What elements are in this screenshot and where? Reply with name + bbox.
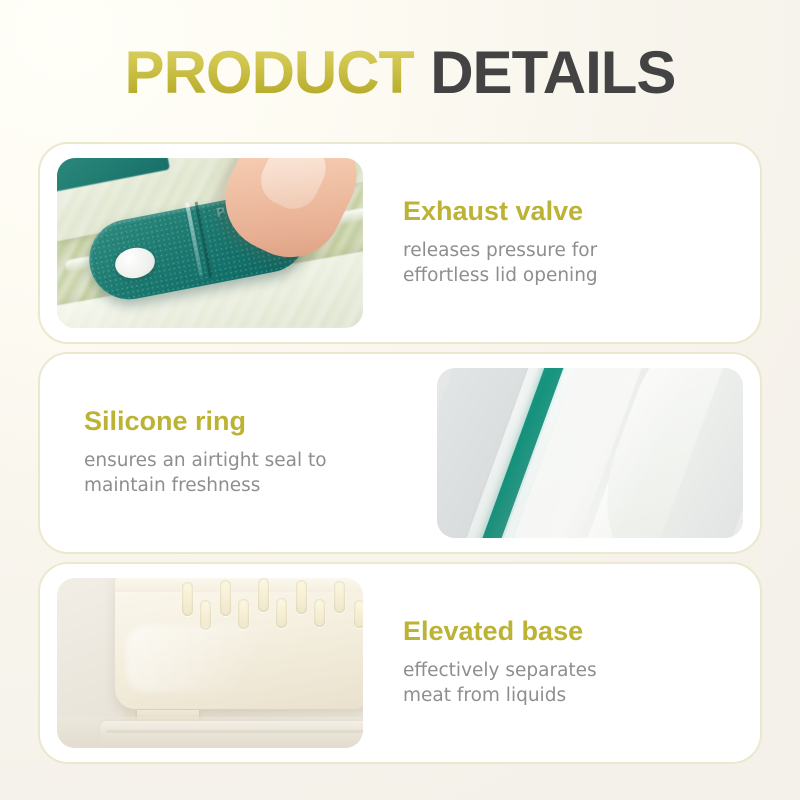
feature-description: ensures an airtight seal to maintain fre…	[84, 448, 413, 499]
basket-slot	[220, 580, 231, 616]
silicone-ring-photo	[437, 368, 743, 538]
feature-description-line-2: maintain freshness	[84, 473, 413, 499]
feature-text-silicone-ring: Silicone ring ensures an airtight seal t…	[40, 407, 437, 499]
page-title: PRODUCTDETAILS	[0, 38, 800, 107]
feature-description-line-2: meat from liquids	[403, 683, 736, 709]
feature-text-exhaust-valve: Exhaust valve releases pressure for effo…	[363, 197, 760, 289]
basket-slot	[182, 582, 193, 616]
surface-shadow	[57, 717, 363, 748]
feature-description-line-1: effectively separates	[403, 658, 736, 684]
drain-basket	[115, 578, 363, 709]
feature-description-line-1: releases pressure for	[403, 238, 736, 264]
basket-sheen	[126, 625, 310, 692]
feature-description: effectively separates meat from liquids	[403, 658, 736, 709]
feature-title: Elevated base	[403, 617, 736, 647]
feature-description-line-2: effortless lid opening	[403, 263, 736, 289]
feature-description-line-1: ensures an airtight seal to	[84, 448, 413, 474]
feature-text-elevated-base: Elevated base effectively separates meat…	[363, 617, 760, 709]
page-title-dark: DETAILS	[430, 38, 675, 107]
basket-slot	[354, 600, 363, 628]
feature-card-exhaust-valve: PUSH Exhaust valve releases pressure for…	[38, 142, 762, 344]
elevated-base-photo	[57, 578, 363, 748]
feature-title: Silicone ring	[84, 407, 413, 437]
feature-card-silicone-ring: Silicone ring ensures an airtight seal t…	[38, 352, 762, 554]
exhaust-valve-photo: PUSH	[57, 158, 363, 328]
basket-slot	[334, 581, 345, 613]
feature-title: Exhaust valve	[403, 197, 736, 227]
product-details-page: PRODUCTDETAILS PUSH Exhaust valve releas…	[0, 0, 800, 800]
feature-description: releases pressure for effortless lid ope…	[403, 238, 736, 289]
page-title-accent: PRODUCT	[125, 38, 415, 107]
basket-slot	[296, 580, 307, 614]
basket-slot	[276, 598, 287, 628]
basket-slot	[258, 578, 269, 612]
feature-card-elevated-base: Elevated base effectively separates meat…	[38, 562, 762, 764]
photo-sheen	[437, 368, 743, 538]
basket-slot	[314, 599, 325, 627]
